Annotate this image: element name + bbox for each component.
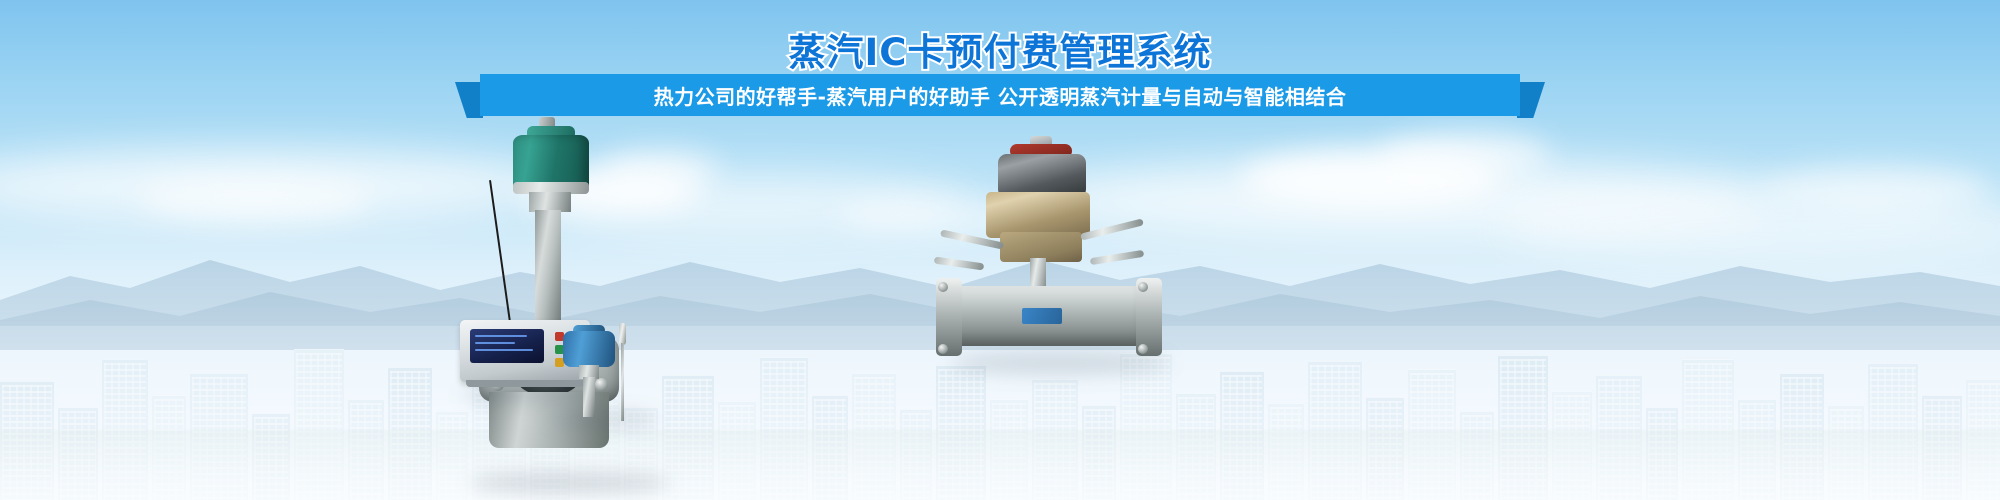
subtitle-ribbon: 热力公司的好帮手-蒸汽用户的好助手 公开透明蒸汽计量与自动与智能相结合 bbox=[0, 74, 2000, 118]
ribbon-fold-right bbox=[1517, 82, 1545, 118]
product-pressure-sensor bbox=[545, 325, 655, 405]
banner-subtitle: 热力公司的好帮手-蒸汽用户的好助手 公开透明蒸汽计量与自动与智能相结合 bbox=[654, 81, 1347, 110]
banner-title: 蒸汽IC卡预付费管理系统 bbox=[0, 22, 2000, 76]
sensor-head bbox=[563, 331, 615, 367]
hero-banner: 蒸汽IC卡预付费管理系统 热力公司的好帮手-蒸汽用户的好助手 公开透明蒸汽计量与… bbox=[0, 0, 2000, 500]
valve-nameplate bbox=[1022, 308, 1062, 324]
ribbon-fold-left bbox=[455, 82, 483, 118]
product-pneumatic-control-valve bbox=[930, 140, 1170, 390]
product-vortex-flow-meter bbox=[455, 130, 685, 500]
